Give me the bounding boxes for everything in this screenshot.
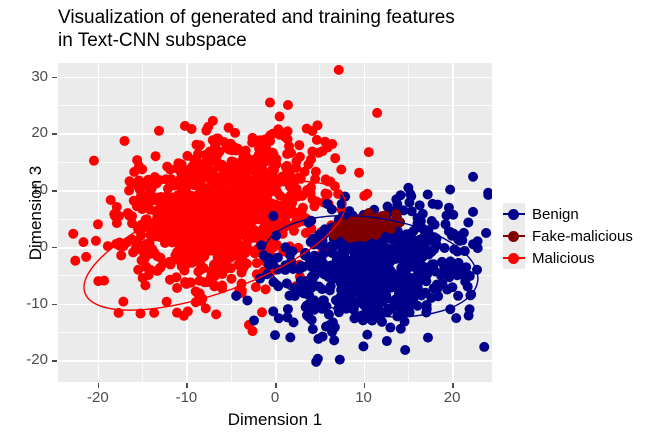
y-tick-label: -20 [6, 351, 48, 368]
legend-item-benign[interactable]: Benign [503, 203, 661, 225]
legend-label-benign: Benign [525, 206, 579, 223]
legend-label-malicious: Malicious [525, 250, 595, 267]
legend-key-benign-icon [503, 203, 525, 225]
y-tick-mark [52, 247, 57, 249]
legend-key-fake-malicious-icon [503, 225, 525, 247]
y-tick-mark [52, 360, 57, 362]
legend-item-malicious[interactable]: Malicious [503, 247, 661, 269]
x-tick-mark [452, 383, 454, 388]
x-tick-label: 10 [341, 389, 387, 406]
x-tick-label: -10 [163, 389, 209, 406]
scatter-layer [58, 63, 492, 382]
x-tick-mark [98, 383, 100, 388]
x-tick-label: 20 [429, 389, 475, 406]
y-tick-mark [52, 77, 57, 79]
x-tick-mark [186, 383, 188, 388]
x-tick-label: 0 [252, 389, 298, 406]
y-tick-label: 30 [6, 68, 48, 85]
plot-panel [58, 63, 492, 382]
legend: Benign Fake-malicious Malicious [503, 203, 661, 269]
y-axis-label: Dimension 3 [26, 93, 46, 333]
x-tick-mark [275, 383, 277, 388]
x-tick-label: -20 [75, 389, 121, 406]
legend-label-fake-malicious: Fake-malicious [525, 228, 633, 245]
y-tick-mark [52, 190, 57, 192]
y-tick-mark [52, 304, 57, 306]
y-tick-mark [52, 133, 57, 135]
legend-item-fake-malicious[interactable]: Fake-malicious [503, 225, 661, 247]
legend-key-malicious-icon [503, 247, 525, 269]
x-tick-mark [364, 383, 366, 388]
x-axis-label: Dimension 1 [58, 410, 492, 430]
page-title: Visualization of generated and training … [58, 6, 558, 52]
